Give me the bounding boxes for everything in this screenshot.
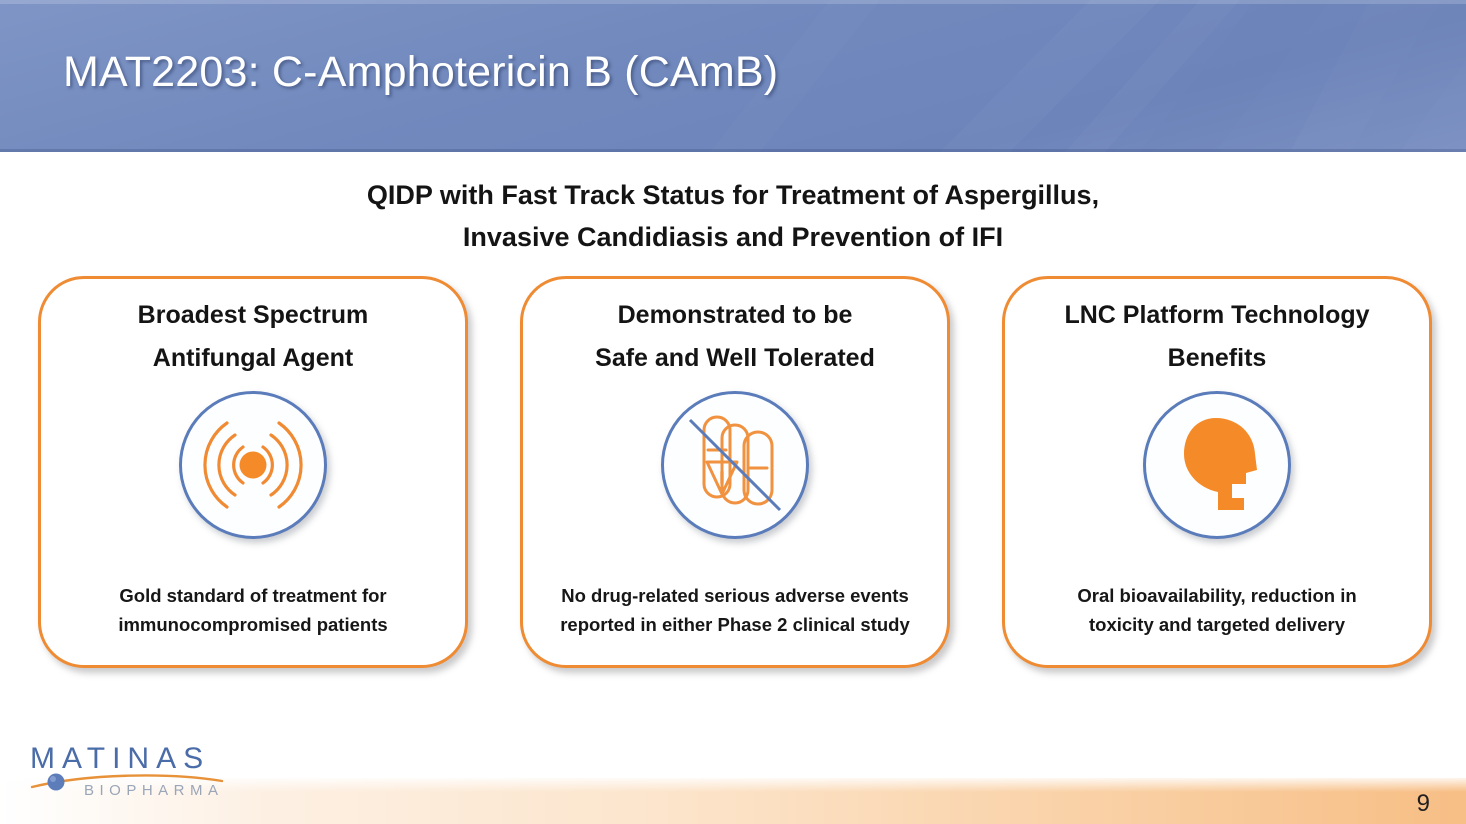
page-title: MAT2203: C-Amphotericin B (CAmB)	[63, 48, 778, 97]
header-bottom-edge	[0, 149, 1466, 152]
icon-circle	[1143, 391, 1291, 539]
card-icon-wrap	[1005, 391, 1429, 539]
slide-header: MAT2203: C-Amphotericin B (CAmB)	[0, 0, 1466, 152]
subtitle-line-1: QIDP with Fast Track Status for Treatmen…	[0, 174, 1466, 216]
card-title-line-2: Benefits	[1018, 337, 1417, 380]
card-title: LNC Platform Technology Benefits	[1018, 294, 1417, 380]
card-title: Broadest Spectrum Antifungal Agent	[54, 294, 453, 380]
card-body: No drug-related serious adverse events r…	[523, 581, 947, 639]
card-body-line-2: reported in either Phase 2 clinical stud…	[523, 610, 947, 639]
card-body-line-2: immunocompromised patients	[41, 610, 465, 639]
card-body-line-2: toxicity and targeted delivery	[1005, 610, 1429, 639]
no-adverse-events-icon	[672, 402, 798, 528]
card-title-line-2: Antifungal Agent	[54, 337, 453, 380]
oral-delivery-head-icon	[1158, 406, 1276, 524]
feature-card-lnc-platform[interactable]: LNC Platform Technology Benefits Oral bi…	[1002, 276, 1432, 668]
signal-center-dot	[240, 452, 267, 479]
card-title-line-1: Demonstrated to be	[536, 294, 935, 337]
card-icon-wrap	[41, 391, 465, 539]
radiating-signal-icon	[193, 405, 313, 525]
card-body-line-1: Gold standard of treatment for	[41, 581, 465, 610]
card-title-line-1: Broadest Spectrum	[54, 294, 453, 337]
feature-card-broadest-spectrum[interactable]: Broadest Spectrum Antifungal Agent	[38, 276, 468, 668]
feature-card-safe-tolerated[interactable]: Demonstrated to be Safe and Well Tolerat…	[520, 276, 950, 668]
logo-tagline: BIOPHARMA	[84, 782, 224, 799]
card-body: Gold standard of treatment for immunocom…	[41, 581, 465, 639]
card-body-line-1: Oral bioavailability, reduction in	[1005, 581, 1429, 610]
slide-subtitle: QIDP with Fast Track Status for Treatmen…	[0, 174, 1466, 258]
header-top-highlight	[0, 0, 1466, 4]
card-icon-wrap	[523, 391, 947, 539]
card-body-line-1: No drug-related serious adverse events	[523, 581, 947, 610]
subtitle-line-2: Invasive Candidiasis and Prevention of I…	[0, 216, 1466, 258]
head-silhouette	[1184, 418, 1257, 510]
icon-circle	[179, 391, 327, 539]
feature-card-row: Broadest Spectrum Antifungal Agent	[38, 276, 1432, 672]
page-number: 9	[1417, 790, 1430, 818]
card-title-line-1: LNC Platform Technology	[1018, 294, 1417, 337]
card-body: Oral bioavailability, reduction in toxic…	[1005, 581, 1429, 639]
icon-circle	[661, 391, 809, 539]
company-logo: MATINAS BIOPHARMA	[26, 742, 266, 806]
card-title-line-2: Safe and Well Tolerated	[536, 337, 935, 380]
card-title: Demonstrated to be Safe and Well Tolerat…	[536, 294, 935, 380]
